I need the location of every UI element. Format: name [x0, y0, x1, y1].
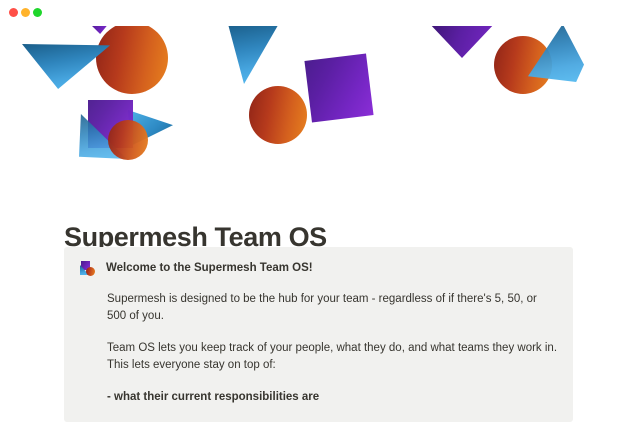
callout-header: Welcome to the Supermesh Team OS! [80, 260, 557, 276]
supermesh-logo-icon [80, 261, 95, 276]
window-close-button[interactable] [9, 8, 18, 17]
cover-shape-right-triangle-purple [428, 22, 496, 58]
window-maximize-button[interactable] [33, 8, 42, 17]
window-minimize-button[interactable] [21, 8, 30, 17]
cover-image[interactable] [0, 0, 640, 190]
cover-shape-left-circle-orange [96, 22, 168, 94]
cover-shape-mid-circle-orange [249, 86, 307, 144]
callout-title: Welcome to the Supermesh Team OS! [106, 260, 313, 276]
window-title-bar [0, 0, 640, 26]
cover-shape-mid-triangle-blue [228, 24, 278, 84]
callout-list-item-1: - what their current responsibilities ar… [107, 389, 557, 406]
cover-shape-left-circle-orange-2 [108, 120, 148, 160]
cover-shape-mid-square-purple [304, 53, 373, 122]
page-content: Supermesh Team OS Welcome to the Superme… [0, 190, 640, 400]
callout-block[interactable]: Welcome to the Supermesh Team OS! Superm… [64, 247, 573, 422]
callout-paragraph-2: Team OS lets you keep track of your peop… [107, 340, 557, 374]
callout-paragraph-1: Supermesh is designed to be the hub for … [107, 291, 557, 325]
logo-circle-orange [86, 267, 95, 276]
